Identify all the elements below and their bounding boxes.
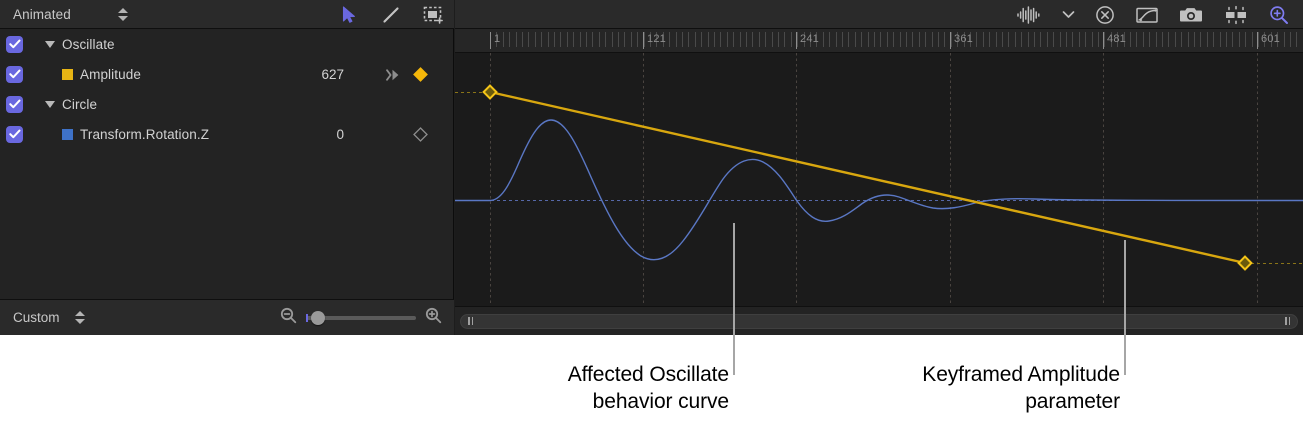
ruler-tick bbox=[772, 32, 773, 47]
ruler-tick bbox=[522, 32, 523, 47]
ruler-tick bbox=[1200, 32, 1201, 47]
ruler-tick bbox=[797, 32, 798, 47]
ruler-major-tick bbox=[490, 32, 491, 49]
ruler-tick bbox=[637, 32, 638, 47]
curve-editor-panel: 1121241361481601 bbox=[455, 0, 1303, 335]
enable-checkbox[interactable] bbox=[6, 66, 23, 83]
ruler-tick bbox=[727, 32, 728, 47]
curve-editor-button[interactable] bbox=[1125, 0, 1169, 29]
ruler-tick bbox=[1220, 32, 1221, 47]
ruler-tick bbox=[1015, 32, 1016, 47]
chevron-down-icon[interactable] bbox=[1052, 0, 1085, 29]
transition-button[interactable] bbox=[1213, 0, 1259, 29]
callout-keyframed-amplitude-text: Keyframed Amplitudeparameter bbox=[922, 361, 1120, 415]
scrollbar-thumb[interactable] bbox=[460, 314, 1298, 329]
ruler-tick bbox=[740, 32, 741, 47]
ruler-tick bbox=[1085, 32, 1086, 47]
ruler-tick bbox=[1072, 32, 1073, 47]
annotation-callouts: Affected Oscillatebehavior curveKeyframe… bbox=[0, 335, 1303, 431]
ruler-tick bbox=[951, 32, 952, 47]
ruler-tick bbox=[861, 32, 862, 47]
amplitude-keyframe-curve bbox=[490, 92, 1245, 263]
ruler-label: 1 bbox=[494, 33, 500, 45]
ruler-tick bbox=[573, 32, 574, 47]
ruler-tick bbox=[996, 32, 997, 47]
parameter-row-body: Transform.Rotation.Z bbox=[55, 127, 209, 142]
ruler-label: 481 bbox=[1107, 33, 1126, 45]
parameter-name: Oscillate bbox=[62, 37, 115, 52]
ruler-tick bbox=[733, 32, 734, 47]
ruler-tick bbox=[695, 32, 696, 47]
ruler-tick bbox=[752, 32, 753, 47]
ruler-tick bbox=[688, 32, 689, 47]
ruler-tick bbox=[1104, 32, 1105, 47]
ruler-tick bbox=[823, 32, 824, 47]
ruler-tick bbox=[1194, 32, 1195, 47]
ruler-label: 361 bbox=[954, 33, 973, 45]
ruler-tick bbox=[1143, 32, 1144, 47]
callout-oscillate-curve-line1: Affected Oscillate bbox=[568, 361, 729, 388]
ruler-tick bbox=[842, 32, 843, 47]
ruler-tick bbox=[1047, 32, 1048, 47]
parameter-row-body: Oscillate bbox=[39, 37, 115, 52]
parameter-row-body: Amplitude bbox=[55, 67, 141, 82]
audio-waveform-button[interactable] bbox=[1006, 0, 1052, 29]
up-down-chevrons-icon bbox=[74, 310, 85, 325]
ruler-tick bbox=[836, 32, 837, 47]
ruler-tick bbox=[612, 32, 613, 47]
curve-plot-area[interactable] bbox=[455, 53, 1303, 306]
parameter-row[interactable]: Amplitude627 bbox=[0, 59, 454, 89]
ruler-tick bbox=[592, 32, 593, 47]
ruler-tick bbox=[1258, 32, 1259, 47]
marquee-add-tool[interactable] bbox=[412, 0, 454, 29]
ruler-tick bbox=[676, 32, 677, 47]
ruler-tick bbox=[1175, 32, 1176, 47]
ruler-tick bbox=[1098, 32, 1099, 47]
ruler-label: 601 bbox=[1261, 33, 1280, 45]
ruler-tick bbox=[1290, 32, 1291, 47]
ruler-tick bbox=[1008, 32, 1009, 47]
parameter-row-body: Circle bbox=[39, 97, 97, 112]
ruler-tick bbox=[976, 32, 977, 47]
disclosure-triangle-icon[interactable] bbox=[45, 101, 55, 108]
keyframe-diamond-filled-icon[interactable] bbox=[413, 67, 428, 87]
ruler-tick bbox=[746, 32, 747, 47]
parameter-name: Circle bbox=[62, 97, 97, 112]
ruler-tick bbox=[925, 32, 926, 47]
callout-keyframed-amplitude-line1: Keyframed Amplitude bbox=[922, 361, 1120, 388]
ruler-label: 241 bbox=[800, 33, 819, 45]
ruler-tick bbox=[586, 32, 587, 47]
magnifier-plus-icon[interactable] bbox=[425, 307, 442, 329]
ruler-tick bbox=[682, 32, 683, 47]
ruler-tick bbox=[1181, 32, 1182, 47]
ruler-tick bbox=[1028, 32, 1029, 47]
select-arrow-tool[interactable] bbox=[328, 0, 370, 29]
ruler-tick bbox=[912, 32, 913, 47]
ruler-major-tick bbox=[643, 32, 644, 49]
ruler-tick bbox=[1213, 32, 1214, 47]
ruler-major-tick bbox=[950, 32, 951, 49]
ruler-tick bbox=[848, 32, 849, 47]
ruler-tick bbox=[548, 32, 549, 47]
ruler-tick bbox=[880, 32, 881, 47]
ruler-tick bbox=[1034, 32, 1035, 47]
ruler-tick bbox=[759, 32, 760, 47]
pen-tool[interactable] bbox=[370, 0, 412, 29]
timeline-zoom-controls bbox=[280, 307, 442, 329]
ruler-tick bbox=[503, 32, 504, 47]
ruler-tick bbox=[791, 32, 792, 47]
curve-color-swatch[interactable] bbox=[62, 129, 73, 140]
enable-checkbox[interactable] bbox=[6, 36, 23, 53]
ruler-tick bbox=[535, 32, 536, 47]
preset-label: Custom bbox=[13, 310, 60, 325]
ruler-tick bbox=[989, 32, 990, 47]
animated-filter-label: Animated bbox=[13, 7, 71, 22]
magnifier-minus-icon[interactable] bbox=[280, 307, 297, 329]
up-down-chevrons-icon bbox=[117, 7, 128, 22]
ruler-tick bbox=[1060, 32, 1061, 47]
ruler-tick bbox=[906, 32, 907, 47]
slider-origin-tick bbox=[306, 314, 308, 322]
scrollbar-grip-right[interactable] bbox=[1285, 317, 1290, 325]
ruler-tick bbox=[1168, 32, 1169, 47]
motion-keyframe-editor-window: Animated bbox=[0, 0, 1303, 335]
ruler-tick bbox=[560, 32, 561, 47]
ruler-tick bbox=[516, 32, 517, 47]
parameter-value[interactable]: 0 bbox=[336, 127, 344, 142]
parameter-value[interactable]: 627 bbox=[321, 67, 344, 82]
callout-oscillate-curve-leader-line-overlay bbox=[733, 223, 735, 335]
ruler-tick bbox=[1239, 32, 1240, 47]
ruler-tick bbox=[618, 32, 619, 47]
ruler-tick bbox=[708, 32, 709, 47]
ruler-tick bbox=[983, 32, 984, 47]
ruler-tick bbox=[541, 32, 542, 47]
ruler-tick bbox=[567, 32, 568, 47]
ruler-tick bbox=[1156, 32, 1157, 47]
parameter-row[interactable]: Transform.Rotation.Z0 bbox=[0, 119, 454, 149]
ruler-tick bbox=[900, 32, 901, 47]
parameter-row[interactable]: Oscillate bbox=[0, 29, 454, 59]
parameter-rows: OscillateAmplitude627CircleTransform.Rot… bbox=[0, 29, 454, 149]
ruler-tick bbox=[1136, 32, 1137, 47]
animated-filter-dropdown[interactable]: Animated bbox=[0, 7, 128, 22]
ruler-tick bbox=[1079, 32, 1080, 47]
ruler-tick bbox=[1092, 32, 1093, 47]
keyframe-marker-end bbox=[1239, 257, 1252, 270]
ruler-tick bbox=[1226, 32, 1227, 47]
ruler-tick bbox=[599, 32, 600, 47]
ruler-tick bbox=[528, 32, 529, 47]
slider-knob[interactable] bbox=[311, 311, 325, 325]
ruler-tick bbox=[1284, 32, 1285, 47]
callout-oscillate-curve-line2: behavior curve bbox=[568, 388, 729, 415]
ruler-tick bbox=[944, 32, 945, 47]
ruler-tick bbox=[1296, 32, 1297, 47]
callout-keyframed-amplitude-leader-line bbox=[1124, 335, 1126, 375]
callout-keyframed-amplitude-leader-line-overlay bbox=[1124, 240, 1126, 335]
parameter-list-tools bbox=[328, 0, 454, 29]
callout-oscillate-curve-leader-line bbox=[733, 335, 735, 375]
scrollbar-grip-left[interactable] bbox=[468, 317, 473, 325]
delete-keyframes-button[interactable] bbox=[1085, 0, 1125, 29]
ruler-major-tick bbox=[1103, 32, 1104, 49]
parameter-row[interactable]: Circle bbox=[0, 89, 454, 119]
ruler-tick bbox=[509, 32, 510, 47]
ruler-tick bbox=[631, 32, 632, 47]
enable-checkbox[interactable] bbox=[6, 96, 23, 113]
ruler-tick bbox=[1245, 32, 1246, 47]
disclosure-triangle-icon[interactable] bbox=[45, 41, 55, 48]
keyframe-diamond-outline-icon[interactable] bbox=[413, 127, 428, 147]
ruler-tick bbox=[1252, 32, 1253, 47]
ruler-tick bbox=[1021, 32, 1022, 47]
enable-checkbox[interactable] bbox=[6, 126, 23, 143]
timeline-zoom-slider[interactable] bbox=[306, 316, 416, 320]
ruler-tick bbox=[580, 32, 581, 47]
oscillate-behavior-curve bbox=[455, 120, 1303, 260]
snapshot-button[interactable] bbox=[1169, 0, 1213, 29]
ruler-tick bbox=[1207, 32, 1208, 47]
ruler-tick bbox=[784, 32, 785, 47]
ruler-tick bbox=[624, 32, 625, 47]
zoom-fit-button[interactable] bbox=[1259, 0, 1299, 29]
ruler-major-tick bbox=[796, 32, 797, 49]
ruler-tick bbox=[1188, 32, 1189, 47]
ruler-tick bbox=[1130, 32, 1131, 47]
parameter-list-footer: Custom bbox=[0, 299, 454, 335]
ruler-tick bbox=[778, 32, 779, 47]
ruler-tick bbox=[893, 32, 894, 47]
next-keyframe-arrow-icon[interactable] bbox=[386, 68, 402, 86]
parameter-list-header: Animated bbox=[0, 0, 454, 29]
callout-keyframed-amplitude-line2: parameter bbox=[922, 388, 1120, 415]
ruler-tick bbox=[765, 32, 766, 47]
keyframe-marker-start bbox=[484, 86, 497, 99]
ruler-tick bbox=[855, 32, 856, 47]
ruler-tick bbox=[932, 32, 933, 47]
parameter-list-panel: Animated bbox=[0, 0, 454, 335]
ruler-tick bbox=[554, 32, 555, 47]
ruler-tick bbox=[874, 32, 875, 47]
ruler-label: 121 bbox=[647, 33, 666, 45]
ruler-tick bbox=[1232, 32, 1233, 47]
ruler-tick bbox=[868, 32, 869, 47]
callout-oscillate-curve-text: Affected Oscillatebehavior curve bbox=[568, 361, 729, 415]
ruler-tick bbox=[1040, 32, 1041, 47]
timeline-ruler[interactable]: 1121241361481601 bbox=[455, 29, 1303, 53]
ruler-major-tick bbox=[1257, 32, 1258, 49]
preset-dropdown[interactable]: Custom bbox=[0, 310, 85, 325]
ruler-tick bbox=[1066, 32, 1067, 47]
ruler-tick bbox=[605, 32, 606, 47]
ruler-tick bbox=[720, 32, 721, 47]
ruler-tick bbox=[1053, 32, 1054, 47]
ruler-tick bbox=[887, 32, 888, 47]
ruler-tick bbox=[701, 32, 702, 47]
ruler-tick bbox=[829, 32, 830, 47]
parameter-name: Amplitude bbox=[80, 67, 141, 82]
ruler-tick bbox=[714, 32, 715, 47]
curve-color-swatch[interactable] bbox=[62, 69, 73, 80]
ruler-tick bbox=[1162, 32, 1163, 47]
curve-editor-header bbox=[455, 0, 1303, 29]
ruler-tick bbox=[669, 32, 670, 47]
ruler-tick bbox=[919, 32, 920, 47]
curve-editor-tools bbox=[1006, 0, 1299, 29]
ruler-tick bbox=[938, 32, 939, 47]
ruler-tick bbox=[644, 32, 645, 47]
horizontal-scrollbar[interactable] bbox=[455, 306, 1303, 335]
ruler-tick bbox=[1149, 32, 1150, 47]
parameter-name: Transform.Rotation.Z bbox=[80, 127, 209, 142]
ruler-tick bbox=[1002, 32, 1003, 47]
